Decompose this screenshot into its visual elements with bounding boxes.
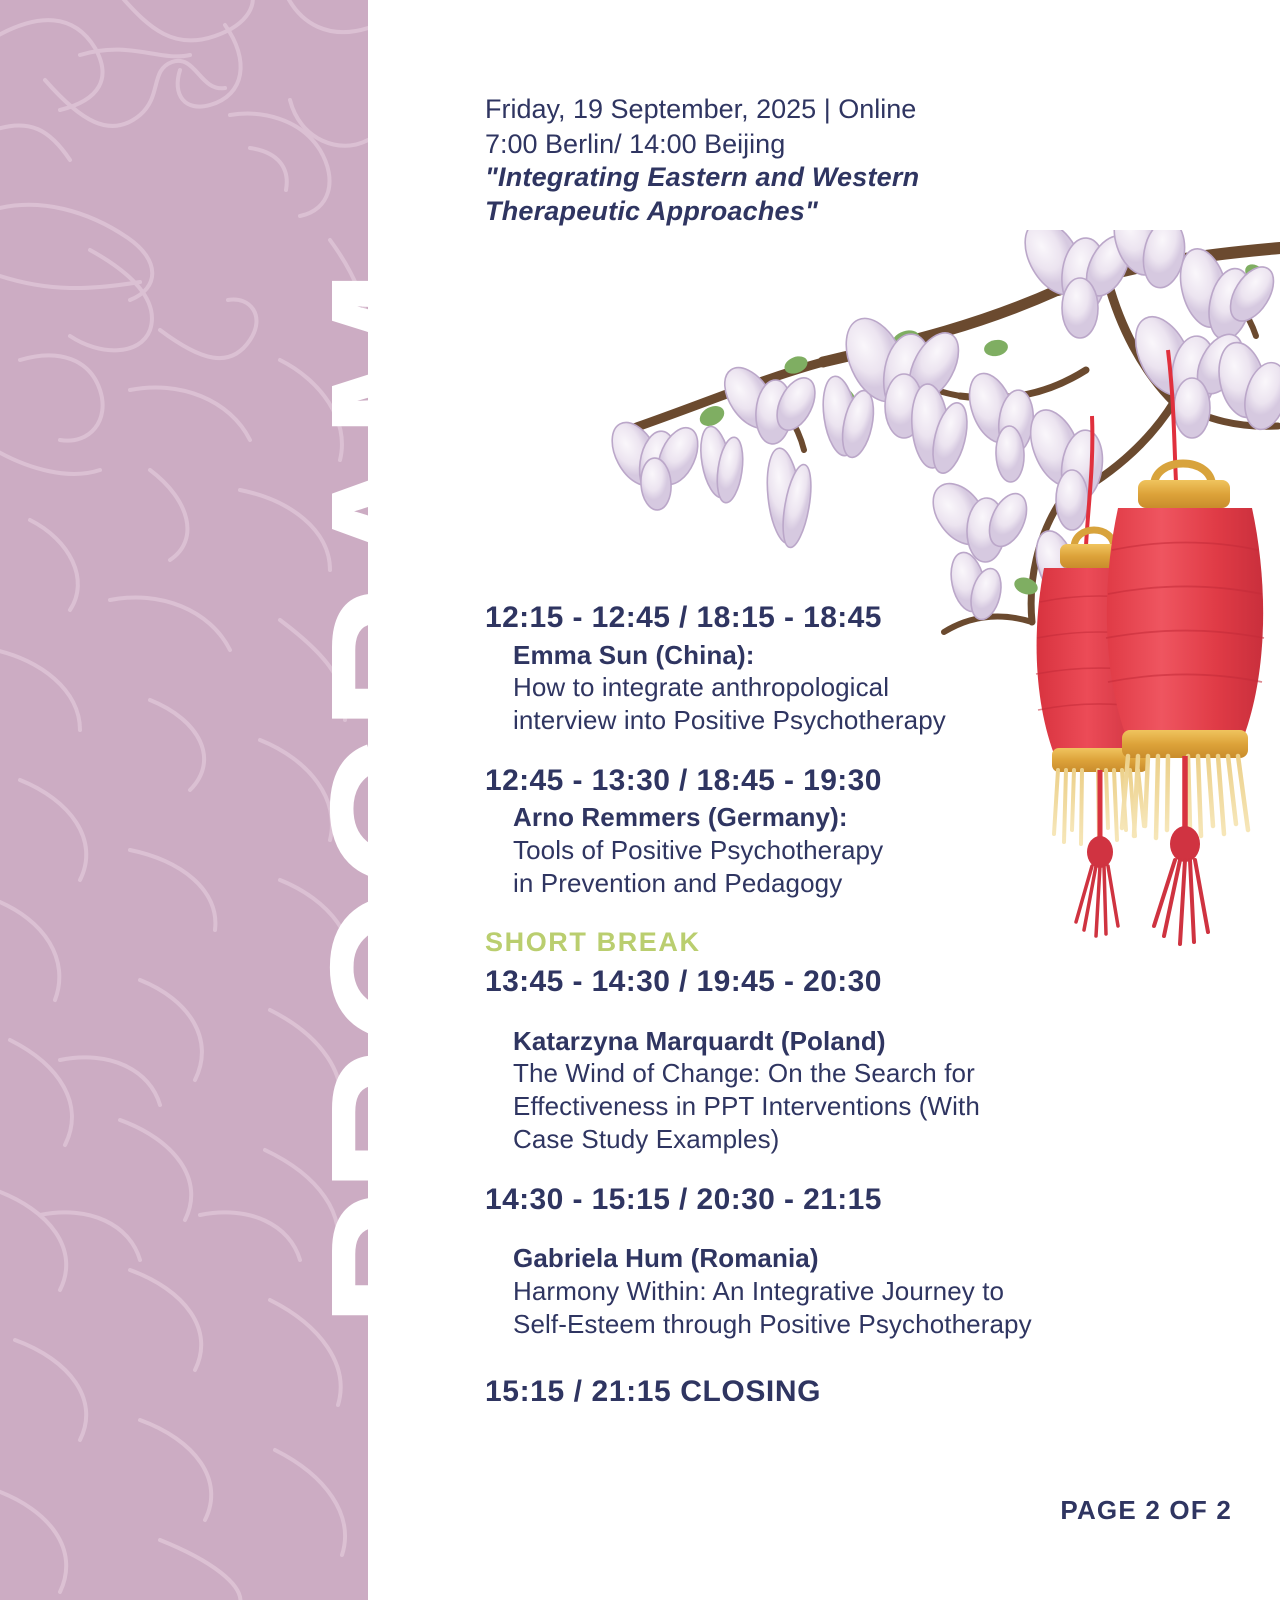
session-topic-line: Effectiveness in PPT Interventions (With xyxy=(513,1090,1245,1123)
session-time: 12:45 - 13:30 / 18:45 - 19:30 xyxy=(485,763,1245,800)
event-date-line: Friday, 19 September, 2025 | Online xyxy=(485,92,1105,127)
session-speaker: Arno Remmers (Germany): xyxy=(513,801,1245,834)
page-number-footer: PAGE 2 OF 2 xyxy=(1060,1495,1232,1526)
session-item: 12:15 - 12:45 / 18:15 - 18:45 Emma Sun (… xyxy=(485,600,1245,737)
session-details: Gabriela Hum (Romania) Harmony Within: A… xyxy=(485,1242,1245,1340)
session-topic-line: Self-Esteem through Positive Psychothera… xyxy=(513,1308,1245,1341)
session-details: Katarzyna Marquardt (Poland) The Wind of… xyxy=(485,1025,1245,1156)
sidebar: PROGRAM xyxy=(0,0,368,1600)
session-item: 12:45 - 13:30 / 18:45 - 19:30 Arno Remme… xyxy=(485,763,1245,900)
session-topic-line: How to integrate anthropological xyxy=(513,671,1245,704)
session-topic-line: interview into Positive Psychotherapy xyxy=(513,704,1245,737)
session-time: 12:15 - 12:45 / 18:15 - 18:45 xyxy=(485,600,1245,637)
session-topic-line: Harmony Within: An Integrative Journey t… xyxy=(513,1275,1245,1308)
closing-time: 15:15 / 21:15 CLOSING xyxy=(485,1375,1245,1409)
session-topic-line: in Prevention and Pedagogy xyxy=(513,867,1245,900)
session-speaker: Katarzyna Marquardt (Poland) xyxy=(513,1025,1245,1058)
page-title-program: PROGRAM xyxy=(300,271,368,1329)
short-break-label: SHORT BREAK xyxy=(485,926,1245,958)
main-content: Friday, 19 September, 2025 | Online 7:00… xyxy=(368,0,1280,1600)
event-theme-line-2: Therapeutic Approaches" xyxy=(485,195,1105,228)
session-topic-line: The Wind of Change: On the Search for xyxy=(513,1057,1245,1090)
session-time: 14:30 - 15:15 / 20:30 - 21:15 xyxy=(485,1182,1245,1219)
event-header: Friday, 19 September, 2025 | Online 7:00… xyxy=(485,92,1105,228)
session-time: 13:45 - 14:30 / 19:45 - 20:30 xyxy=(485,964,1245,1001)
event-time-line: 7:00 Berlin/ 14:00 Beijing xyxy=(485,127,1105,162)
session-topic-line: Tools of Positive Psychotherapy xyxy=(513,834,1245,867)
sidebar-title-container: PROGRAM xyxy=(0,0,368,1600)
session-speaker: Emma Sun (China): xyxy=(513,639,1245,672)
session-details: Emma Sun (China): How to integrate anthr… xyxy=(485,639,1245,737)
schedule-list: 12:15 - 12:45 / 18:15 - 18:45 Emma Sun (… xyxy=(485,600,1245,1409)
session-item: SHORT BREAK 13:45 - 14:30 / 19:45 - 20:3… xyxy=(485,926,1245,1156)
session-item: 14:30 - 15:15 / 20:30 - 21:15 Gabriela H… xyxy=(485,1182,1245,1341)
session-details: Arno Remmers (Germany): Tools of Positiv… xyxy=(485,801,1245,899)
event-theme-line-1: "Integrating Eastern and Western xyxy=(485,161,1105,194)
session-speaker: Gabriela Hum (Romania) xyxy=(513,1242,1245,1275)
session-topic-line: Case Study Examples) xyxy=(513,1123,1245,1156)
